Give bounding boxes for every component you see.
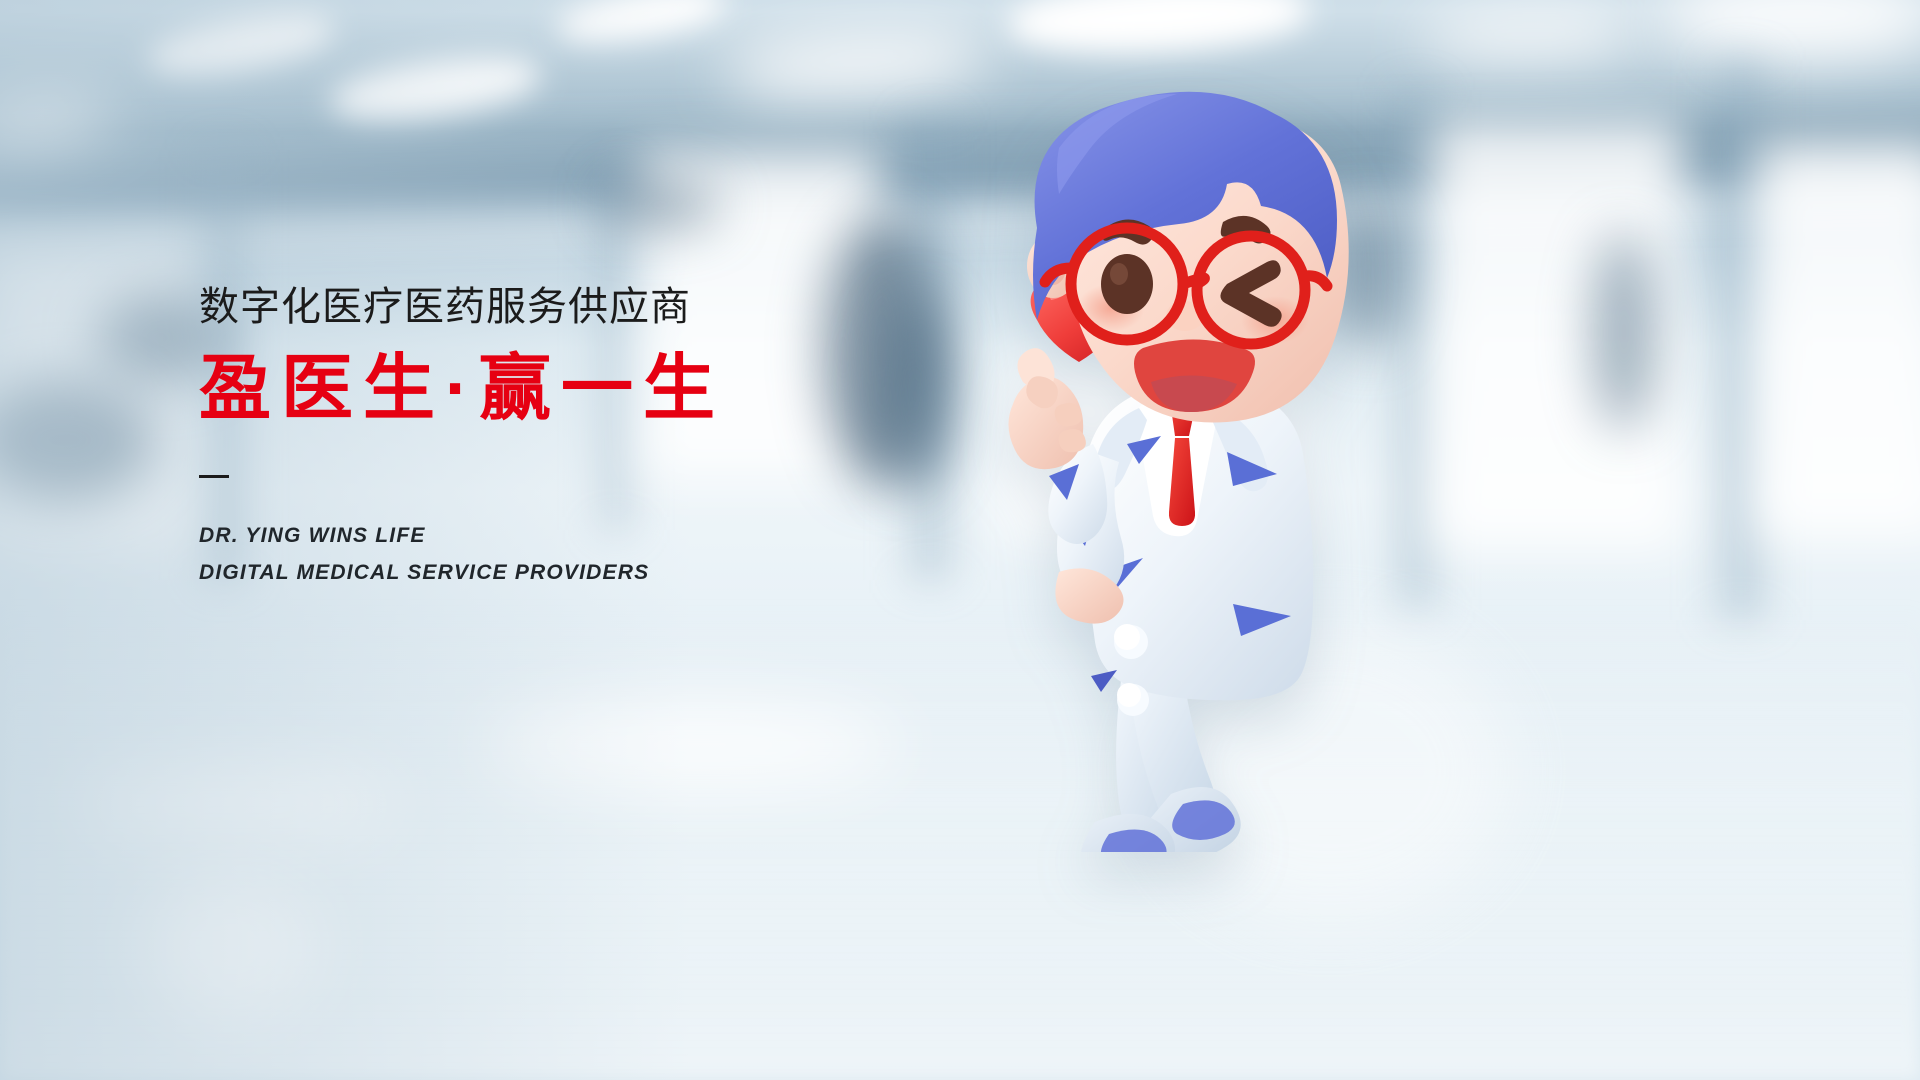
mascot-eye-open: [1101, 254, 1153, 314]
hero-banner: 数字化医疗医药服务供应商 盈医生·赢一生 DR. YING WINS LIFE …: [0, 0, 1920, 1080]
banner-copy: 数字化医疗医药服务供应商 盈医生·赢一生 DR. YING WINS LIFE …: [199, 284, 919, 591]
banner-headline: 盈医生·赢一生: [199, 348, 919, 431]
banner-subheadline: 数字化医疗医药服务供应商: [199, 284, 919, 330]
wall-panel-highlight: [1756, 140, 1920, 540]
english-line-2: DIGITAL MEDICAL SERVICE PROVIDERS: [199, 555, 919, 592]
mascot-finger-heart-hand: [1008, 348, 1107, 544]
banner-english-copy: DR. YING WINS LIFE DIGITAL MEDICAL SERVI…: [199, 518, 919, 592]
english-line-1: DR. YING WINS LIFE: [199, 518, 919, 555]
background-equipment-blur: [1594, 232, 1654, 432]
divider-rule: [199, 475, 229, 478]
doctor-mascot-illustration: [975, 52, 1535, 852]
